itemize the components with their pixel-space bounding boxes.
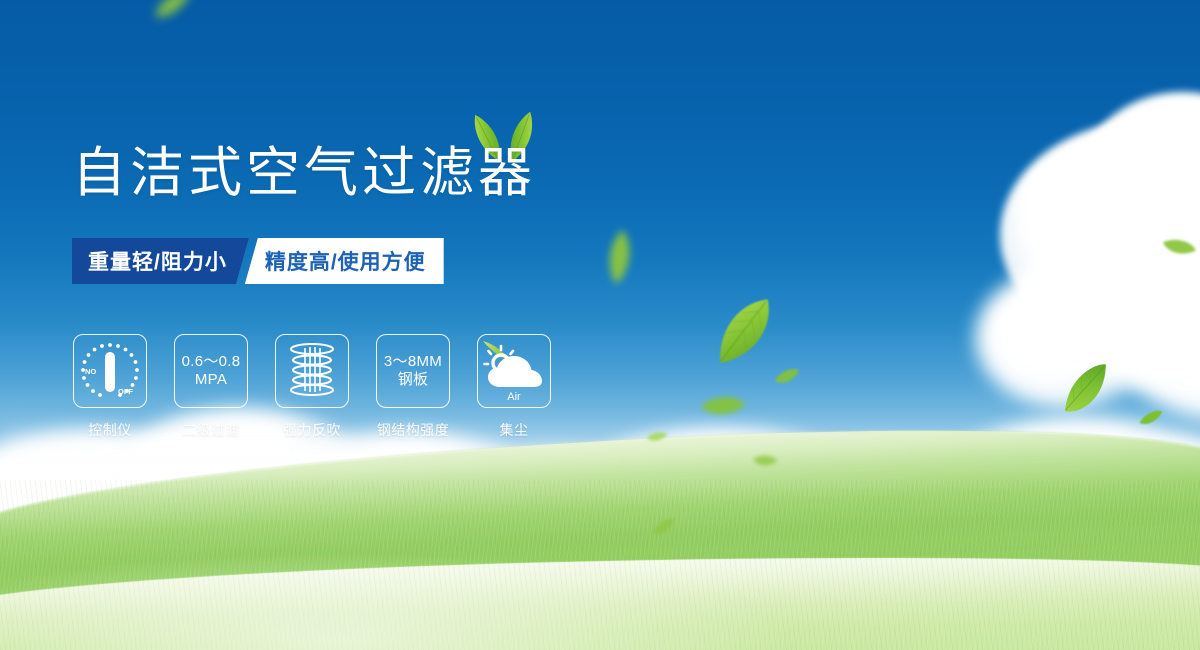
steel-material: 钢板 (384, 371, 442, 389)
pressure-text-icon: 0.6〜0.8 MPA (174, 334, 248, 408)
feature-item-two-stage-filter[interactable]: 0.6〜0.8 MPA 二级过滤 (173, 334, 249, 440)
product-banner: 自洁式空气过滤器 重量轻/阻力小 精度高/使用方便 (0, 0, 1200, 650)
floating-leaf-icon (645, 429, 668, 444)
pressure-value: 0.6〜0.8 (182, 353, 241, 371)
feature-label: 强力反吹 (283, 420, 341, 440)
feature-item-dust-collection[interactable]: Air 集尘 (476, 334, 552, 440)
air-label: Air (507, 391, 521, 403)
gauge-icon: NO OFF (73, 334, 147, 408)
cloud-air-icon: Air (477, 334, 551, 408)
feature-label: 钢结构强度 (377, 420, 450, 440)
subtitle-right: 精度高/使用方便 (245, 238, 444, 284)
filter-cartridge-icon (275, 334, 349, 408)
steel-plate-text-icon: 3〜8MM 钢板 (376, 334, 450, 408)
feature-list: NO OFF 控制仪 0.6〜0.8 MPA 二级过滤 (72, 334, 552, 440)
feature-label: 二级过滤 (182, 420, 240, 440)
subtitle-bar: 重量轻/阻力小 精度高/使用方便 (72, 238, 444, 284)
feature-item-steel-structure[interactable]: 3〜8MM 钢板 钢结构强度 (375, 334, 451, 440)
gauge-no-label: NO (85, 367, 96, 376)
feature-item-controller[interactable]: NO OFF 控制仪 (72, 334, 148, 440)
gauge-off-label: OFF (118, 387, 133, 396)
feature-label: 集尘 (500, 420, 529, 440)
subtitle-left: 重量轻/阻力小 (72, 238, 249, 284)
pressure-unit: MPA (182, 371, 241, 389)
feature-label: 控制仪 (88, 420, 132, 440)
steel-thickness: 3〜8MM (384, 353, 442, 371)
feature-item-back-blow[interactable]: 强力反吹 (274, 334, 350, 440)
grass-sun-glow (0, 470, 1200, 650)
page-title: 自洁式空气过滤器 (72, 146, 536, 200)
